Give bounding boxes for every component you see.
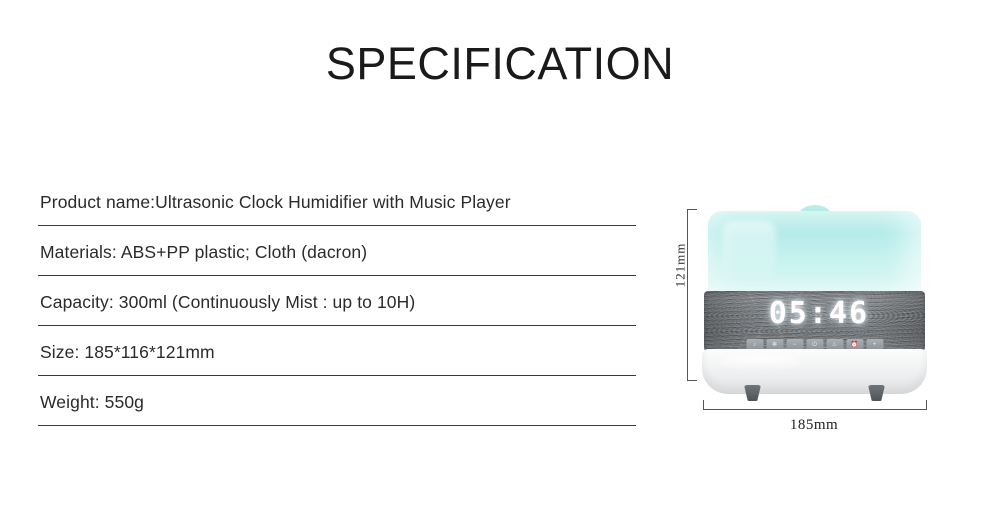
product-foot-right — [868, 385, 885, 401]
product-foot-left — [744, 385, 761, 401]
specification-page: SPECIFICATION Product name:Ultrasonic Cl… — [0, 0, 1000, 529]
spec-text-product-name: Product name:Ultrasonic Clock Humidifier… — [40, 192, 511, 213]
spec-text-capacity: Capacity: 300ml (Continuously Mist : up … — [40, 292, 415, 313]
spec-row-capacity: Capacity: 300ml (Continuously Mist : up … — [38, 276, 636, 326]
product-figure: 121mm 05:46 ♪ ✻ − ⏻ ♨ ⏰ + — [655, 195, 975, 460]
product-base — [702, 349, 927, 394]
spec-text-size: Size: 185*116*121mm — [40, 342, 215, 363]
width-dimension-label: 185mm — [703, 417, 925, 434]
page-title: SPECIFICATION — [0, 38, 1000, 90]
spec-text-materials: Materials: ABS+PP plastic; Cloth (dacron… — [40, 242, 367, 263]
specification-table: Product name:Ultrasonic Clock Humidifier… — [38, 176, 636, 426]
spec-row-product-name: Product name:Ultrasonic Clock Humidifier… — [38, 176, 636, 226]
height-dimension-label: 121mm — [672, 243, 688, 288]
base-highlight — [720, 355, 800, 371]
fabric-panel: 05:46 ♪ ✻ − ⏻ ♨ ⏰ + — [704, 291, 925, 353]
height-dimension-bracket — [687, 209, 697, 381]
product-image-humidifier: 05:46 ♪ ✻ − ⏻ ♨ ⏰ + — [702, 205, 927, 390]
width-dimension-bracket — [703, 400, 927, 410]
spec-row-weight: Weight: 550g — [38, 376, 636, 426]
dome-highlight — [722, 221, 776, 287]
spec-row-materials: Materials: ABS+PP plastic; Cloth (dacron… — [38, 226, 636, 276]
light-dome — [708, 211, 921, 293]
row-divider — [38, 425, 636, 426]
led-clock-display: 05:46 — [769, 299, 869, 329]
spec-row-size: Size: 185*116*121mm — [38, 326, 636, 376]
spec-text-weight: Weight: 550g — [40, 392, 144, 413]
